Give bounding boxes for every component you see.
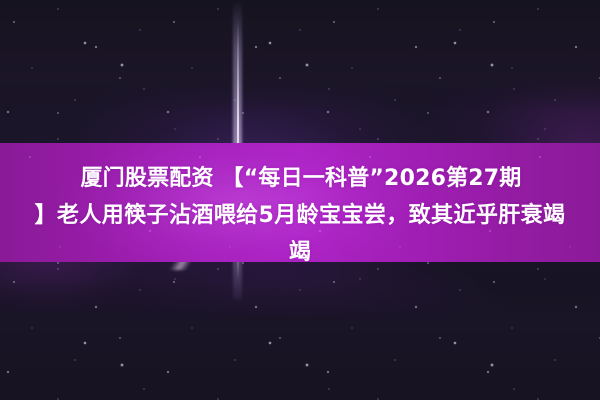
headline-line-2: 】老人用筷子沾酒喂给5月龄宝宝尝，致其近乎肝衰竭 — [0, 197, 600, 234]
headline-line-1: 厦门股票配资 【“每日一科普”2026第27期 — [2, 160, 600, 197]
headline-line-3: 竭 — [0, 234, 600, 271]
banner-image: 厦门股票配资 【“每日一科普”2026第27期 】老人用筷子沾酒喂给5月龄宝宝尝… — [0, 0, 600, 400]
headline-text: 厦门股票配资 【“每日一科普”2026第27期 】老人用筷子沾酒喂给5月龄宝宝尝… — [0, 160, 600, 271]
